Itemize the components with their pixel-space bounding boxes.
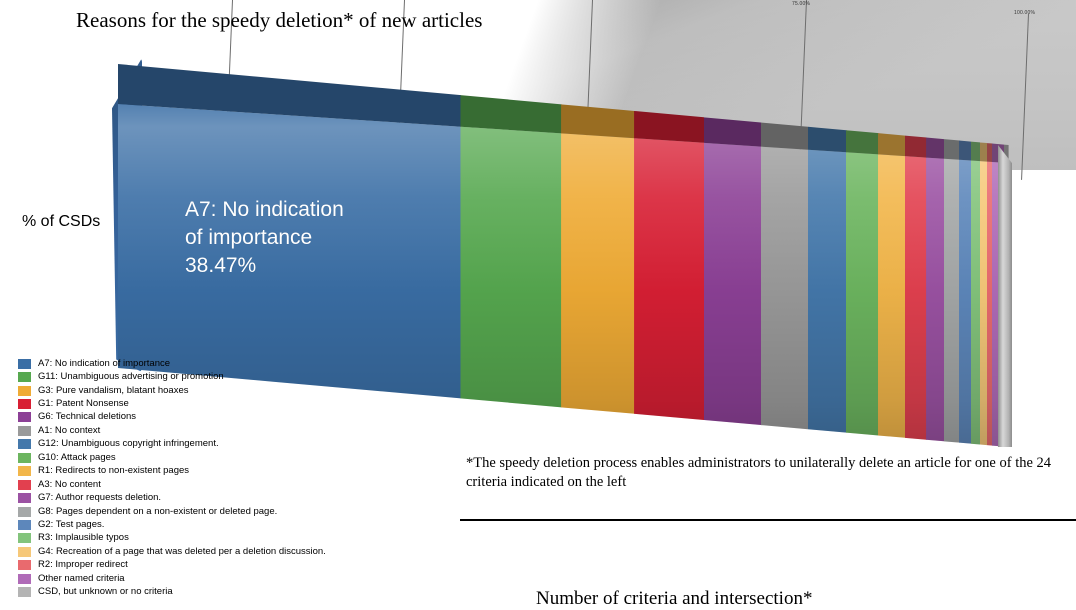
legend-item[interactable]: G7: Author requests deletion.: [18, 491, 326, 504]
segment-shading: [926, 0, 944, 470]
legend-color-swatch: [18, 493, 31, 503]
legend-item-label: Other named criteria: [38, 574, 125, 584]
legend-item-label: G12: Unambiguous copyright infringement.: [38, 439, 219, 449]
legend-color-swatch: [18, 372, 31, 382]
segment-shading: [846, 0, 879, 470]
legend-item[interactable]: Other named criteria: [18, 572, 326, 585]
legend-item[interactable]: G11: Unambiguous advertising or promotio…: [18, 370, 326, 383]
bottom-section-heading: Number of criteria and intersection*: [536, 588, 812, 610]
legend-color-swatch: [18, 386, 31, 396]
legend-item-label: CSD, but unknown or no criteria: [38, 587, 173, 597]
legend-color-swatch: [18, 453, 31, 463]
legend-color-swatch: [18, 439, 31, 449]
legend-item-label: G11: Unambiguous advertising or promotio…: [38, 372, 224, 382]
bar-segment: [878, 0, 905, 470]
legend-color-swatch: [18, 359, 31, 369]
legend-color-swatch: [18, 507, 31, 517]
legend-color-swatch: [18, 426, 31, 436]
legend-item-label: A3: No content: [38, 480, 101, 490]
legend-item[interactable]: G12: Unambiguous copyright infringement.: [18, 438, 326, 451]
bar-segment: [634, 0, 704, 470]
legend-item[interactable]: G8: Pages dependent on a non-existent or…: [18, 505, 326, 518]
legend-item-label: A7: No indication of importance: [38, 359, 170, 369]
bar-segment: [959, 0, 971, 470]
bar-segment: [704, 0, 762, 470]
footnote-text: *The speedy deletion process enables adm…: [466, 454, 1056, 492]
legend-color-swatch: [18, 587, 31, 597]
legend-item[interactable]: G1: Patent Nonsense: [18, 397, 326, 410]
legend-item[interactable]: G2: Test pages.: [18, 518, 326, 531]
bar-segment-label-a7: A7: No indication of importance 38.47%: [185, 196, 344, 280]
legend-item[interactable]: G3: Pure vandalism, blatant hoaxes: [18, 384, 326, 397]
segment-shading: [944, 0, 960, 470]
chart-legend: A7: No indication of importanceG11: Unam…: [18, 357, 326, 599]
legend-item-label: R2: Improper redirect: [38, 560, 128, 570]
legend-color-swatch: [18, 560, 31, 570]
segment-shading: [460, 0, 561, 470]
legend-color-swatch: [18, 520, 31, 530]
segment-shading: [808, 0, 847, 470]
legend-item[interactable]: R1: Redirects to non-existent pages: [18, 465, 326, 478]
segment-shading: [561, 0, 635, 470]
legend-item[interactable]: G10: Attack pages: [18, 451, 326, 464]
legend-color-swatch: [18, 547, 31, 557]
legend-item[interactable]: A7: No indication of importance: [18, 357, 326, 370]
segment-shading: [959, 0, 971, 470]
legend-item[interactable]: CSD, but unknown or no criteria: [18, 585, 326, 598]
legend-color-swatch: [18, 533, 31, 543]
legend-item-label: G2: Test pages.: [38, 520, 104, 530]
legend-color-swatch: [18, 466, 31, 476]
bar-segment: [846, 0, 879, 470]
legend-color-swatch: [18, 412, 31, 422]
legend-item[interactable]: R2: Improper redirect: [18, 559, 326, 572]
legend-item[interactable]: A3: No content: [18, 478, 326, 491]
legend-color-swatch: [18, 480, 31, 490]
legend-color-swatch: [18, 399, 31, 409]
segment-shading: [878, 0, 905, 470]
bar-segment: [944, 0, 960, 470]
legend-color-swatch: [18, 574, 31, 584]
legend-item-label: G10: Attack pages: [38, 453, 116, 463]
bar-segment: [905, 0, 927, 470]
legend-item-label: R3: Implausible typos: [38, 533, 129, 543]
legend-item[interactable]: G4: Recreation of a page that was delete…: [18, 545, 326, 558]
bar-segment: [808, 0, 847, 470]
segment-shading: [634, 0, 704, 470]
segment-shading: [761, 0, 809, 470]
legend-item-label: G8: Pages dependent on a non-existent or…: [38, 507, 277, 517]
legend-item-label: R1: Redirects to non-existent pages: [38, 466, 189, 476]
legend-item-label: G1: Patent Nonsense: [38, 399, 129, 409]
legend-item-label: G4: Recreation of a page that was delete…: [38, 547, 326, 557]
bar-segment: [460, 0, 561, 470]
legend-item[interactable]: R3: Implausible typos: [18, 532, 326, 545]
legend-item-label: G7: Author requests deletion.: [38, 493, 161, 503]
bar-segment: [761, 0, 809, 470]
legend-item-label: A1: No context: [38, 426, 100, 436]
bar-segment: [561, 0, 635, 470]
legend-item-label: G3: Pure vandalism, blatant hoaxes: [38, 386, 189, 396]
legend-item-label: G6: Technical deletions: [38, 412, 136, 422]
legend-item[interactable]: G6: Technical deletions: [18, 411, 326, 424]
segment-shading: [905, 0, 927, 470]
legend-item[interactable]: A1: No context: [18, 424, 326, 437]
bar-right-end-cap: [998, 145, 1012, 447]
segment-shading: [704, 0, 762, 470]
horizontal-rule: [460, 519, 1076, 521]
bar-segment: [926, 0, 944, 470]
